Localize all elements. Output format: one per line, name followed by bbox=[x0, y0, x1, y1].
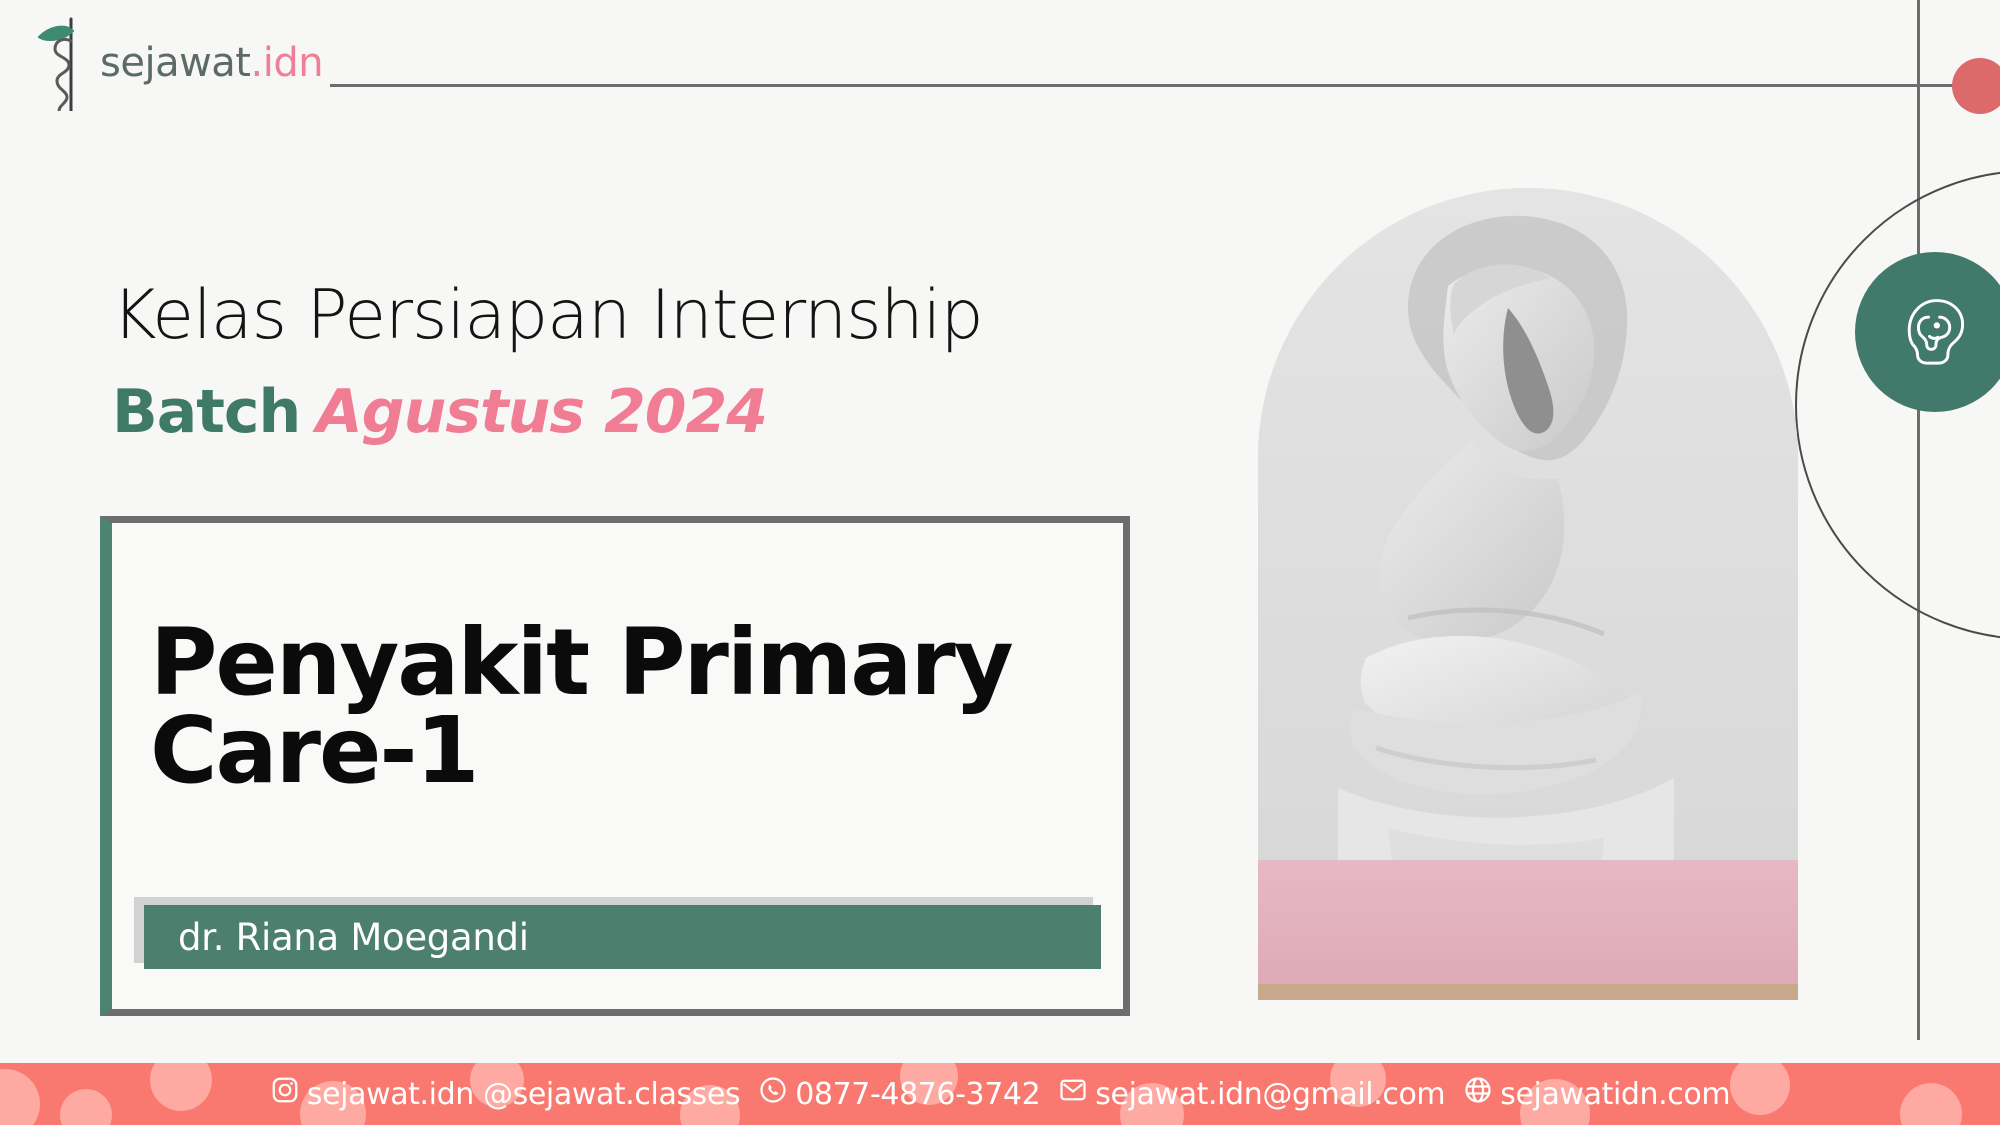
photo-pink-band bbox=[1258, 860, 1798, 986]
footer-item-website[interactable]: sejawatidn.com bbox=[1463, 1075, 1730, 1113]
top-horizontal-rule bbox=[330, 84, 1970, 87]
pregnancy-fetus-icon bbox=[1889, 284, 1981, 381]
footer-item-instagram-text: sejawat.idn @sejawat.classes bbox=[307, 1077, 740, 1112]
envelope-icon bbox=[1058, 1075, 1088, 1113]
brand-logo-text-secondary: .idn bbox=[250, 40, 323, 86]
footer-item-website-text: sejawatidn.com bbox=[1500, 1077, 1730, 1112]
footer-item-email-text: sejawat.idn@gmail.com bbox=[1095, 1077, 1445, 1112]
footer-item-whatsapp-text: 0877-4876-3742 bbox=[795, 1077, 1040, 1112]
brand-logo-text: sejawat.idn bbox=[100, 43, 323, 83]
course-heading: Kelas Persiapan Internship bbox=[112, 282, 983, 350]
batch-heading: BatchAgustus 2024 bbox=[112, 382, 767, 442]
speaker-bar: dr. Riana Moegandi bbox=[144, 905, 1101, 969]
title-card: Penyakit Primary Care-1 dr. Riana Moegan… bbox=[100, 516, 1130, 1016]
contact-footer: sejawat.idn @sejawat.classes 0877-4876-3… bbox=[0, 1063, 2000, 1125]
footer-contact-list: sejawat.idn @sejawat.classes 0877-4876-3… bbox=[0, 1063, 2000, 1125]
speaker-name: dr. Riana Moegandi bbox=[178, 916, 529, 959]
batch-label: Batch bbox=[112, 377, 300, 447]
footer-item-instagram[interactable]: sejawat.idn @sejawat.classes bbox=[270, 1075, 740, 1113]
pregnant-woman-photo bbox=[1258, 188, 1798, 1000]
brand-logo[interactable]: sejawat.idn bbox=[34, 16, 323, 110]
page-title: Penyakit Primary Care-1 bbox=[150, 619, 1099, 796]
photo-tan-band bbox=[1258, 984, 1798, 1000]
whatsapp-icon bbox=[758, 1075, 788, 1113]
brand-logo-text-primary: sejawat bbox=[100, 40, 250, 86]
batch-value: Agustus 2024 bbox=[316, 377, 767, 447]
speaker-bar-wrap: dr. Riana Moegandi bbox=[134, 897, 1101, 967]
globe-icon bbox=[1463, 1075, 1493, 1113]
instagram-icon bbox=[270, 1075, 300, 1113]
pink-dot-decoration bbox=[1952, 58, 2000, 114]
asclepius-staff-icon bbox=[34, 15, 94, 111]
slide-canvas: sejawat.idn Kelas Persiapan Internship B… bbox=[0, 0, 2000, 1125]
title-card-body: Penyakit Primary Care-1 dr. Riana Moegan… bbox=[112, 523, 1123, 1009]
footer-item-email[interactable]: sejawat.idn@gmail.com bbox=[1058, 1075, 1445, 1113]
footer-item-whatsapp[interactable]: 0877-4876-3742 bbox=[758, 1075, 1040, 1113]
outline-circle-decoration bbox=[1795, 170, 2000, 640]
